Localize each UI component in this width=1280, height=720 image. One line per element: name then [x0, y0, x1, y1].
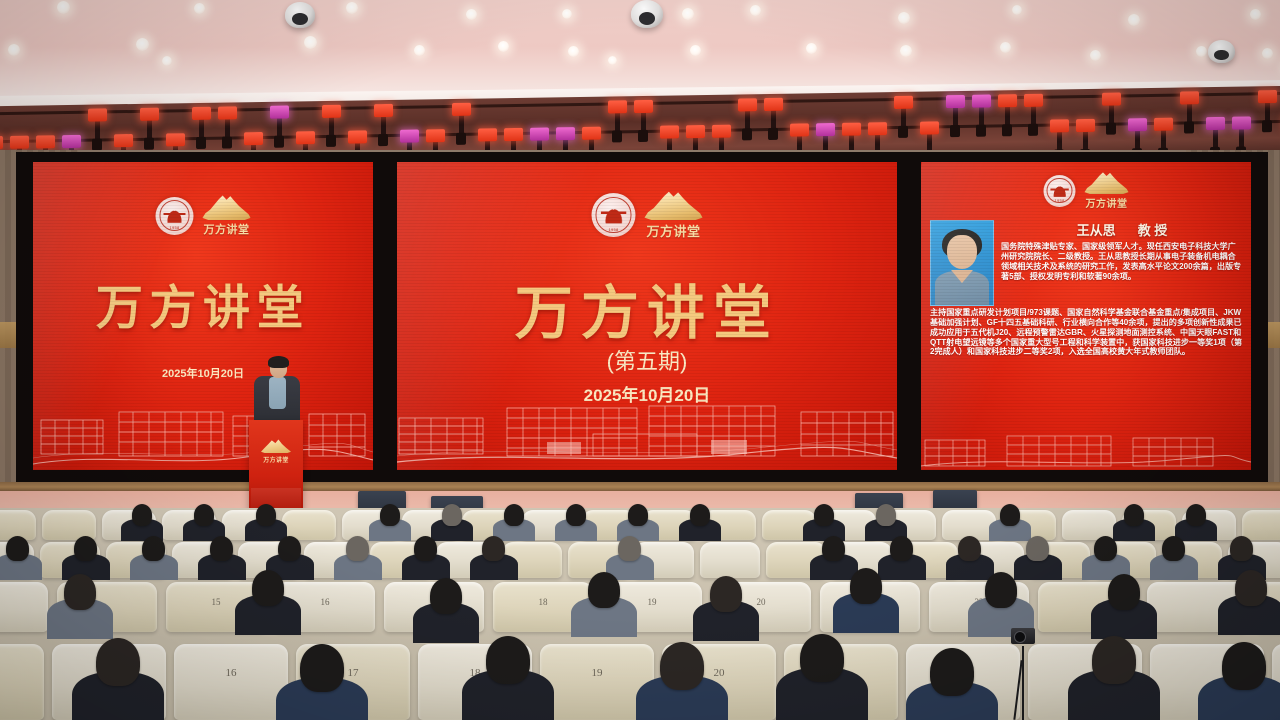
speaker-portrait-photo: [930, 220, 994, 306]
audience-member-head: [890, 536, 913, 561]
audience-member-head: [690, 504, 710, 526]
light-fixture-head: [144, 138, 154, 150]
university-emblem-icon: 1958: [156, 197, 194, 235]
audience-member-head: [300, 644, 344, 692]
podium-logo: 万方讲堂: [261, 438, 291, 464]
light-fixture-head: [1262, 120, 1272, 132]
stage-light: [400, 129, 419, 142]
stage-light: [712, 125, 731, 138]
audience-member-head: [132, 504, 152, 526]
stage-light: [998, 94, 1017, 107]
wanfang-logo-left: 万方讲堂: [203, 194, 251, 237]
screen-title-center: 万方讲堂: [397, 266, 897, 350]
seat[interactable]: [1242, 510, 1280, 540]
stage-light: [660, 125, 679, 138]
stage-light: [816, 123, 835, 136]
audience-member-head: [210, 536, 233, 561]
audience-member-head: [985, 572, 1017, 608]
light-fixture-head: [950, 125, 960, 137]
ceiling-downlight: [136, 38, 149, 51]
audience-member-head: [1222, 642, 1266, 690]
ceiling-downlight: [1128, 14, 1140, 26]
stage-light: [114, 134, 133, 147]
ceiling-downlight: [8, 44, 20, 56]
stage-light: [608, 100, 627, 113]
stage-light: [270, 106, 289, 119]
audience-member-head: [74, 536, 97, 561]
brand-lockup-left: 1958 万方讲堂: [156, 194, 251, 237]
ceiling-downlight: [682, 8, 694, 20]
light-fixture-head: [196, 137, 206, 149]
ceiling-downlight: [562, 9, 572, 19]
seat[interactable]: [0, 582, 48, 632]
ceiling-downlight: [57, 1, 70, 14]
seat-number: 17: [348, 667, 359, 679]
audience-member-head: [1108, 574, 1140, 610]
ceiling-downlight: [346, 2, 358, 14]
wanfang-logo-center: 万方讲堂: [645, 190, 703, 240]
seat[interactable]: [0, 644, 44, 720]
speaker-bio-paragraph-1: 国务院特殊津贴专家、国家级领军人才。现任西安电子科技大学广州研究院院长、二级教授…: [1001, 242, 1243, 281]
stage-light: [452, 103, 471, 116]
stage-light: [1232, 116, 1251, 129]
audience-member-head: [1000, 504, 1020, 526]
seat-number: 18: [539, 597, 548, 607]
audience-member-head: [660, 642, 704, 690]
stage-light: [1024, 94, 1043, 107]
ceiling-downlight: [304, 36, 317, 49]
stage-light: [868, 122, 887, 135]
mountain-icon: [261, 438, 291, 453]
stage-light: [192, 107, 211, 120]
screen-title-left: 万方讲堂: [33, 269, 373, 338]
screen-subtitle-center: (第五期): [397, 344, 897, 376]
speaker-title: 教 授: [1138, 223, 1168, 238]
light-fixture-head: [1028, 124, 1038, 136]
audience-member-head: [194, 504, 214, 526]
stage-light: [738, 98, 757, 111]
led-screen-wall: 1958 万方讲堂 万方讲堂 2025年10月20日: [16, 152, 1268, 482]
auditorium-scene: 1958 万方讲堂 万方讲堂 2025年10月20日: [0, 0, 1280, 720]
stage-light: [140, 108, 159, 121]
light-fixture-head: [222, 136, 232, 148]
ceiling-downlight: [898, 12, 910, 24]
stage-light: [478, 128, 497, 141]
ceiling-downlight: [1012, 5, 1022, 15]
ceiling-downlight: [568, 46, 579, 57]
audience-member-head: [1026, 536, 1049, 561]
audience-member-head: [958, 536, 981, 561]
audience-member-head: [930, 648, 974, 696]
stage-light: [88, 108, 107, 121]
screen-date-left: 2025年10月20日: [33, 365, 373, 381]
audience-member-head: [142, 536, 165, 561]
stage-light: [244, 132, 263, 145]
audience-member-head: [6, 536, 29, 561]
ceiling-downlight: [498, 41, 509, 52]
light-fixture-head: [976, 125, 986, 137]
speaker-bio-card: 王从思教 授 国务院特殊津贴专家、国家级领军人才。现任西安电子科技大学广州研究院…: [930, 220, 1243, 357]
ceiling-downlight: [900, 45, 912, 57]
tripod-leg: [1022, 646, 1024, 720]
stage-light: [374, 104, 393, 117]
stage-light: [842, 123, 861, 136]
auditorium-seating: 151617181920212216171819202122: [0, 508, 1280, 720]
ceiling-downlight: [1090, 50, 1101, 61]
stage-light: [764, 98, 783, 111]
audience-member-head: [430, 578, 462, 614]
light-fixture-head: [92, 138, 102, 150]
light-fixture-head: [456, 133, 466, 145]
light-fixture-head: [898, 126, 908, 138]
audience-member-head: [380, 504, 400, 526]
stage-light: [582, 127, 601, 140]
dome-camera-icon: [285, 2, 315, 28]
seat[interactable]: [700, 542, 760, 578]
audience-member-head: [252, 570, 284, 606]
audience-member-head: [588, 572, 620, 608]
audience-member-head: [1230, 536, 1253, 561]
light-fixture-head: [768, 128, 778, 140]
audience-member-head: [1186, 504, 1206, 526]
audience-member-head: [628, 504, 648, 526]
audience-member-head: [1235, 570, 1267, 606]
audience-member-head: [1162, 536, 1185, 561]
ceiling-downlight: [1262, 48, 1273, 59]
led-screen-right: 1958 万方讲堂 王从思教 授: [921, 162, 1251, 470]
light-fixture-head: [274, 136, 284, 148]
ceiling-downlight: [608, 56, 617, 65]
ceiling-downlight: [162, 56, 172, 66]
light-fixture-head: [378, 134, 388, 146]
ceiling-downlight: [1250, 9, 1261, 20]
stage-light: [1102, 92, 1121, 105]
stage-light: [920, 121, 939, 134]
led-screen-left: 1958 万方讲堂 万方讲堂 2025年10月20日: [33, 162, 373, 470]
stage-light: [634, 100, 653, 113]
stage-light: [1206, 117, 1225, 130]
audience-member-head: [566, 504, 586, 526]
seat-number: 15: [212, 597, 221, 607]
light-fixture-head: [638, 130, 648, 142]
audience-member-head: [710, 576, 742, 612]
podium: 万方讲堂: [249, 420, 303, 512]
led-screen-center: 1958 万方讲堂 万方讲堂 (第五期) 2025年10月20日: [397, 162, 897, 470]
stage-light: [1050, 119, 1069, 132]
stage-light: [946, 95, 965, 108]
audience-member-head: [800, 634, 844, 682]
wanfang-logo-right: 万方讲堂: [1085, 171, 1129, 210]
light-fixture-head: [1002, 124, 1012, 136]
seat-number: 20: [714, 667, 725, 679]
dome-camera-icon: [631, 0, 663, 28]
stage-light: [1128, 118, 1147, 131]
dome-camera-icon: [1208, 40, 1235, 63]
seat-number: 20: [757, 597, 766, 607]
speaker-hair: [268, 356, 289, 368]
stage-light: [686, 125, 705, 138]
stage-light: [1154, 118, 1173, 131]
stage-light: [1258, 90, 1277, 103]
ceiling-downlight: [466, 9, 477, 20]
seat-number: 19: [592, 667, 603, 679]
speaker-bio-paragraph-2: 主持国家重点研发计划项目/973课题、国家自然科学基金联合基金重点/集成项目、J…: [930, 308, 1243, 357]
seat-number: 19: [648, 597, 657, 607]
brand-lockup-right: 1958 万方讲堂: [1044, 171, 1129, 210]
light-fixture-head: [742, 128, 752, 140]
stage-light: [1180, 91, 1199, 104]
audience-member-head: [278, 536, 301, 561]
audience-member-head: [504, 504, 524, 526]
stage-front-edge: [0, 482, 1280, 491]
audience-member-head: [482, 536, 505, 561]
video-camera-icon: [1011, 628, 1035, 644]
light-fixture-head: [326, 135, 336, 147]
stage-light: [322, 105, 341, 118]
audience-member-head: [414, 536, 437, 561]
audience-member-head: [346, 536, 369, 561]
stage-light: [790, 123, 809, 136]
audience-member-head: [822, 536, 845, 561]
stage-light: [504, 128, 523, 141]
seat[interactable]: 16: [174, 644, 288, 720]
audience-member-head: [618, 536, 641, 561]
stage-light: [556, 127, 575, 140]
university-emblem-icon: 1958: [1044, 175, 1076, 207]
audience-member-head: [850, 568, 882, 604]
light-fixture-head: [1184, 121, 1194, 133]
stage-light: [36, 135, 55, 148]
audience-member-head: [486, 636, 530, 684]
ceiling-downlight: [690, 45, 701, 56]
audience-member-head: [256, 504, 276, 526]
brand-lockup-center: 1958 万方讲堂: [592, 190, 703, 240]
ceiling-downlight: [194, 3, 205, 14]
audience-member-head: [64, 574, 96, 610]
stage-light: [296, 131, 315, 144]
stage-light: [530, 127, 549, 140]
ceiling-downlight: [806, 43, 817, 54]
stage-light: [972, 95, 991, 108]
stage-light: [1076, 119, 1095, 132]
speaker-name: 王从思: [1077, 223, 1116, 238]
stage-light: [62, 135, 81, 148]
campus-lineart-left: [33, 394, 373, 470]
stage-light: [10, 136, 29, 149]
audience-member-head: [876, 504, 896, 526]
stage-light: [426, 129, 445, 142]
university-emblem-icon: 1958: [592, 193, 636, 237]
screen-date-center: 2025年10月20日: [397, 381, 897, 406]
stage-light: [0, 136, 3, 149]
light-fixture-head: [1106, 123, 1116, 135]
speaker-shirt: [269, 377, 286, 409]
audience-member-head: [1092, 636, 1136, 684]
ceiling-downlight: [1196, 46, 1207, 57]
stage-light: [166, 133, 185, 146]
speaker-name-line: 王从思教 授: [1001, 220, 1243, 239]
audience-member-head: [96, 638, 140, 686]
audience-member-head: [814, 504, 834, 526]
ceiling-downlight: [1000, 42, 1011, 53]
ceiling-downlight: [750, 5, 761, 16]
light-fixture-head: [612, 130, 622, 142]
stage-light: [348, 130, 367, 143]
audience-member-head: [1124, 504, 1144, 526]
audience-member-head: [1094, 536, 1117, 561]
stage-light: [894, 96, 913, 109]
ceiling-downlight: [414, 45, 425, 56]
seat-number: 16: [321, 597, 330, 607]
stage-light: [218, 106, 237, 119]
campus-lineart-right: [921, 428, 1251, 470]
audience-member-head: [442, 504, 462, 526]
seat-number: 16: [226, 667, 237, 679]
